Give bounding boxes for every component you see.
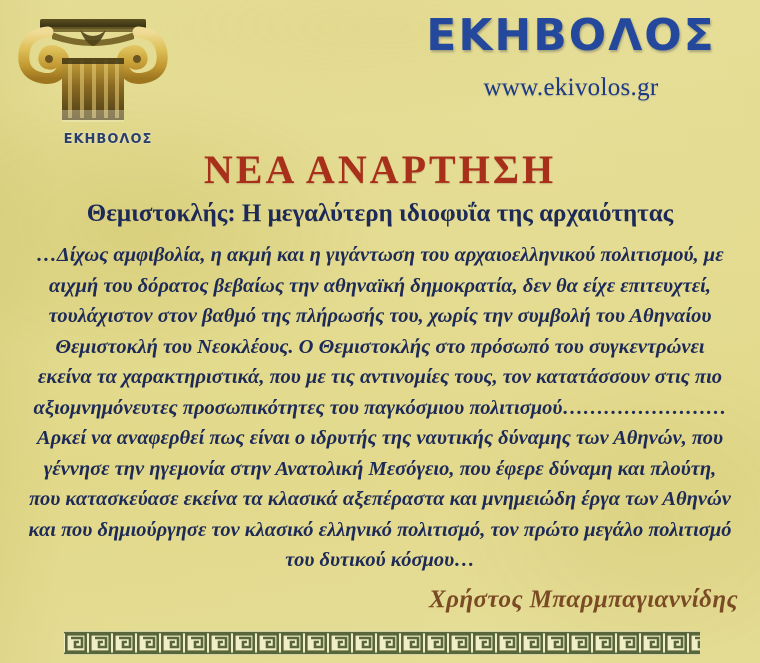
brand-block[interactable]: ΕΚΗΒΟΛΟΣ www.ekivolos.gr bbox=[406, 14, 736, 102]
logo-wordmark: ΕΚΗΒΟΛΟΣ bbox=[48, 132, 168, 147]
article-subtitle: Θεμιστοκλής: Η μεγαλύτερη ιδιοφυΐα της α… bbox=[0, 200, 760, 228]
article-body: …Δίχως αμφιβολία, η ακμή και η γιγάντωση… bbox=[26, 240, 734, 576]
brand-name: ΕΚΗΒΟΛΟΣ bbox=[406, 14, 736, 58]
site-logo[interactable]: ΕΚΗΒΟΛΟΣ bbox=[18, 14, 168, 149]
author-signature: Χρήστος Μπαρμπαγιαννίδης bbox=[429, 586, 738, 614]
body-paragraph: …Δίχως αμφιβολία, η ακμή και η γιγάντωση… bbox=[26, 240, 734, 423]
brand-website-url[interactable]: www.ekivolos.gr bbox=[406, 74, 736, 102]
greek-meander-border bbox=[64, 631, 700, 655]
page-title: ΝΕΑ ΑΝΑΡΤΗΣΗ bbox=[0, 146, 760, 193]
poster-canvas: ΕΚΗΒΟΛΟΣ ΕΚΗΒΟΛΟΣ www.ekivolos.gr ΝΕΑ ΑΝ… bbox=[0, 0, 760, 663]
ionic-column-capital-icon bbox=[18, 14, 168, 132]
body-paragraph: Αρκεί να αναφερθεί πως είναι ο ιδρυτής τ… bbox=[26, 423, 734, 576]
